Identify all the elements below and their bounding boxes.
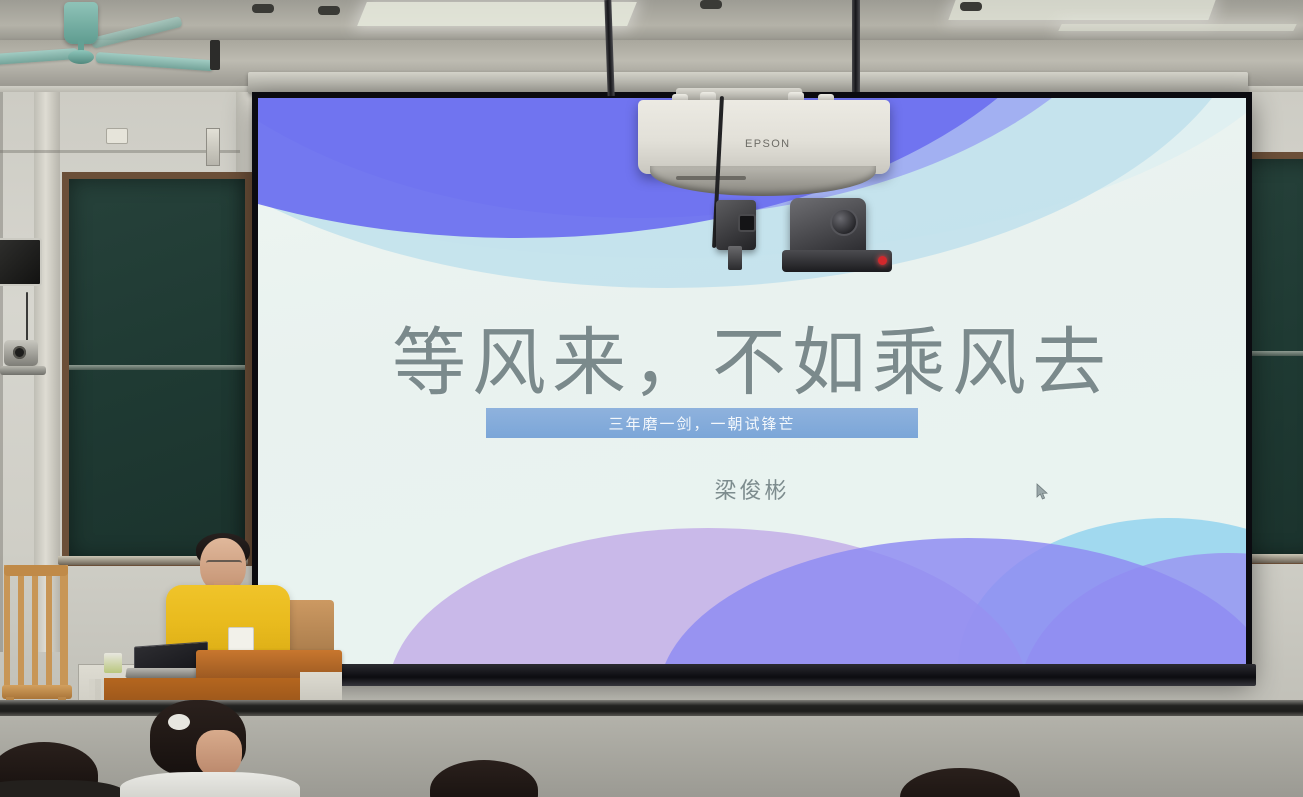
- conduit-box: [206, 128, 220, 166]
- light-switch[interactable]: [106, 128, 128, 144]
- audience-shoulders: [0, 780, 124, 797]
- ptz-camera: [790, 198, 866, 254]
- recording-led-icon: [878, 256, 887, 265]
- mounted-camera: [716, 200, 756, 250]
- classroom-scene: 等风来，不如乘风去 三年磨一剑，一朝试锋芒 梁俊彬 EPSON: [0, 0, 1303, 797]
- ceiling-fan-hub: [68, 50, 94, 64]
- projector-brand-label: EPSON: [745, 138, 791, 150]
- camera-stem: [728, 246, 742, 270]
- audience-face: [196, 730, 242, 778]
- ceiling-fixture: [318, 6, 340, 15]
- ceiling-fixture: [960, 2, 982, 11]
- wall-camera: [4, 340, 38, 366]
- slide-author: 梁俊彬: [258, 473, 1246, 505]
- drink-cup: [104, 653, 122, 673]
- chalkboard-left: [62, 172, 252, 566]
- slide-title: 等风来，不如乘风去: [258, 303, 1246, 410]
- slide-subtitle-banner: 三年磨一剑，一朝试锋芒: [486, 408, 918, 438]
- chair-back: [4, 565, 68, 687]
- chair-top-rail: [4, 565, 68, 576]
- ceiling-light: [357, 2, 637, 26]
- wall-seam: [0, 150, 240, 153]
- audience-shoulders: [120, 772, 300, 797]
- projector-vent-slot: [676, 176, 746, 180]
- ceiling-fan-motor: [64, 2, 98, 44]
- wall-speaker: [0, 238, 42, 286]
- ptz-camera-lens: [830, 208, 858, 236]
- slide-subtitle: 三年磨一剑，一朝试锋芒: [608, 413, 795, 434]
- projector-mount-pole: [852, 0, 860, 92]
- ceiling-light: [1058, 24, 1296, 31]
- ceiling-fixture: [252, 4, 274, 13]
- camera-cable: [26, 292, 28, 342]
- camera-mount-arm: [0, 366, 46, 375]
- presenter-glasses: [206, 560, 242, 571]
- chalkboard-divider: [69, 365, 245, 370]
- ceiling-light: [948, 0, 1215, 20]
- projection-screen-bottom-bar: [248, 664, 1256, 686]
- ceiling-fixture: [700, 0, 722, 9]
- projector: [638, 100, 890, 174]
- ptz-camera-base: [782, 250, 892, 272]
- conduit-box: [210, 40, 220, 70]
- hair-tie: [168, 714, 190, 730]
